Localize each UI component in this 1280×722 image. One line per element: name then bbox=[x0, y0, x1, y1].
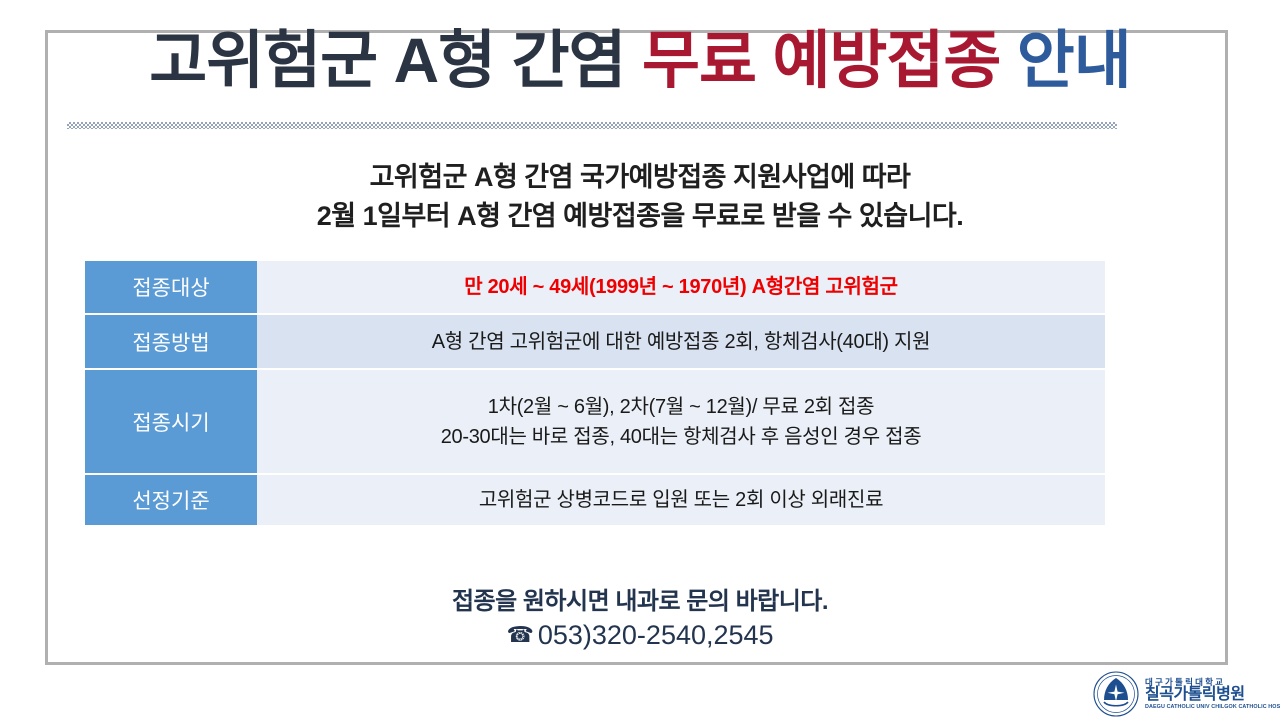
subtitle-block: 고위험군 A형 간염 국가예방접종 지원사업에 따라 2월 1일부터 A형 간염… bbox=[0, 158, 1280, 236]
row-value-schedule: 1차(2월 ~ 6월), 2차(7월 ~ 12월)/ 무료 2회 접종 20-3… bbox=[257, 370, 1105, 473]
row-value-criteria: 고위험군 상병코드로 입원 또는 2회 이상 외래진료 bbox=[257, 475, 1105, 525]
table-row: 선정기준 고위험군 상병코드로 입원 또는 2회 이상 외래진료 bbox=[85, 475, 1105, 525]
row-label-schedule: 접종시기 bbox=[85, 370, 257, 473]
row-label-method: 접종방법 bbox=[85, 315, 257, 368]
hospital-logo-text: 대구가톨릭대학교 칠곡가톨릭병원 DAEGU CATHOLIC UNIV CHI… bbox=[1145, 678, 1280, 711]
table-row: 접종대상 만 20세 ~ 49세(1999년 ~ 1970년) A형간염 고위험… bbox=[85, 261, 1105, 313]
table-row: 접종시기 1차(2월 ~ 6월), 2차(7월 ~ 12월)/ 무료 2회 접종… bbox=[85, 370, 1105, 473]
row-label-criteria: 선정기준 bbox=[85, 475, 257, 525]
table-row: 접종방법 A형 간염 고위험군에 대한 예방접종 2회, 항체검사(40대) 지… bbox=[85, 315, 1105, 368]
hospital-logo: 대구가톨릭대학교 칠곡가톨릭병원 DAEGU CATHOLIC UNIV CHI… bbox=[1093, 670, 1273, 718]
row-value-schedule-line-2: 20-30대는 바로 접종, 40대는 항체검사 후 음성인 경우 접종 bbox=[257, 422, 1105, 452]
subtitle-line-2: 2월 1일부터 A형 간염 예방접종을 무료로 받을 수 있습니다. bbox=[0, 197, 1280, 236]
vaccination-info-table: 접종대상 만 20세 ~ 49세(1999년 ~ 1970년) A형간염 고위험… bbox=[85, 259, 1105, 527]
logo-english-name: DAEGU CATHOLIC UNIV CHILGOK CATHOLIC HOS… bbox=[1145, 705, 1280, 710]
telephone-icon: ☎ bbox=[506, 622, 533, 647]
title-segment-red: 무료 예방접종 bbox=[642, 26, 1017, 96]
row-value-target: 만 20세 ~ 49세(1999년 ~ 1970년) A형간염 고위험군 bbox=[257, 261, 1105, 313]
title-segment-blue: 안내 bbox=[1017, 26, 1131, 96]
page-title: 고위험군 A형 간염 무료 예방접종 안내 bbox=[0, 28, 1280, 94]
contact-block: 접종을 원하시면 내과로 문의 바랍니다. ☎053)320-2540,2545 bbox=[0, 586, 1280, 653]
logo-university-name: 대구가톨릭대학교 bbox=[1145, 678, 1280, 687]
contact-phone-number: 053)320-2540,2545 bbox=[538, 620, 774, 650]
row-value-method: A형 간염 고위험군에 대한 예방접종 2회, 항체검사(40대) 지원 bbox=[257, 315, 1105, 368]
hospital-emblem-icon bbox=[1093, 671, 1139, 717]
logo-hospital-name: 칠곡가톨릭병원 bbox=[1145, 687, 1280, 703]
contact-instruction: 접종을 원하시면 내과로 문의 바랍니다. bbox=[0, 586, 1280, 618]
contact-phone-line: ☎053)320-2540,2545 bbox=[0, 618, 1280, 654]
title-segment-dark: 고위험군 A형 간염 bbox=[149, 26, 642, 96]
row-value-schedule-line-1: 1차(2월 ~ 6월), 2차(7월 ~ 12월)/ 무료 2회 접종 bbox=[257, 392, 1105, 422]
subtitle-line-1: 고위험군 A형 간염 국가예방접종 지원사업에 따라 bbox=[0, 158, 1280, 197]
title-divider bbox=[67, 122, 1117, 129]
row-label-target: 접종대상 bbox=[85, 261, 257, 313]
